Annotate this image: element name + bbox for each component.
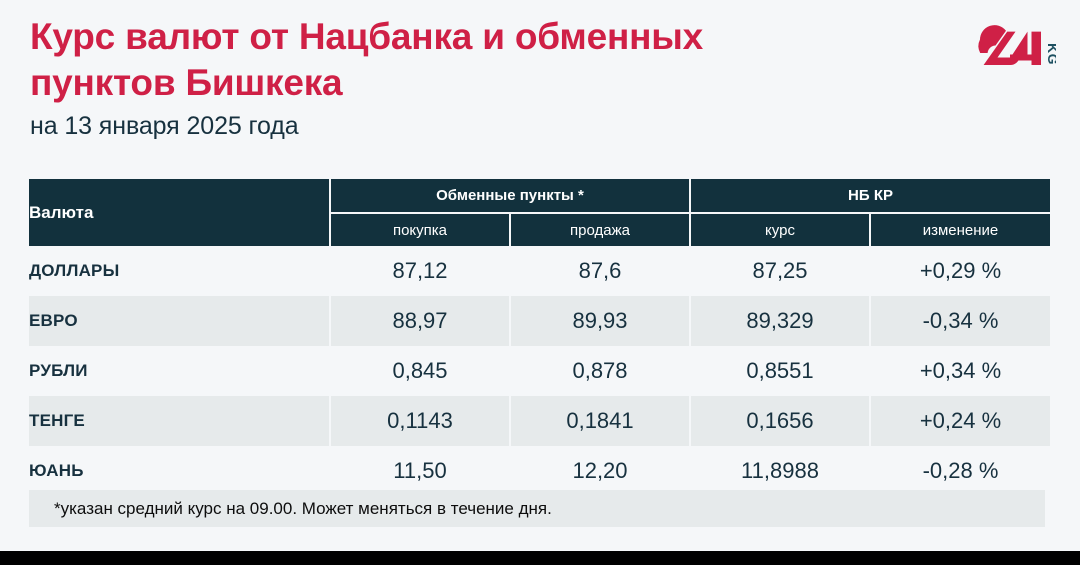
cell-change: +0,29 %: [870, 246, 1050, 296]
table-body: ДОЛЛАРЫ 87,12 87,6 87,25 +0,29 % ЕВРО 88…: [29, 246, 1050, 496]
24kg-logo: KG: [970, 20, 1056, 80]
header-row-groups: Валюта Обменные пункты * НБ КР: [29, 179, 1050, 213]
cell-currency: ДОЛЛАРЫ: [29, 246, 330, 296]
cell-change: +0,24 %: [870, 396, 1050, 446]
cell-rate: 87,25: [690, 246, 870, 296]
cell-rate: 89,329: [690, 296, 870, 346]
column-group-exchange-offices: Обменные пункты *: [330, 179, 690, 213]
cell-change: -0,34 %: [870, 296, 1050, 346]
svg-text:KG: KG: [1045, 43, 1056, 65]
column-header-buy: покупка: [330, 213, 510, 246]
cell-sell: 87,6: [510, 246, 690, 296]
column-header-currency: Валюта: [29, 179, 330, 246]
footnote-band: *указан средний курс на 09.00. Может мен…: [29, 490, 1045, 527]
table-row: ТЕНГЕ 0,1143 0,1841 0,1656 +0,24 %: [29, 396, 1050, 446]
cell-sell: 0,878: [510, 346, 690, 396]
cell-currency: ЕВРО: [29, 296, 330, 346]
table-row: ЕВРО 88,97 89,93 89,329 -0,34 %: [29, 296, 1050, 346]
cell-buy: 0,1143: [330, 396, 510, 446]
table-row: ЮАНЬ 11,50 12,20 11,8988 -0,28 %: [29, 446, 1050, 496]
table-row: ДОЛЛАРЫ 87,12 87,6 87,25 +0,29 %: [29, 246, 1050, 296]
cell-change: +0,34 %: [870, 346, 1050, 396]
table-head: Валюта Обменные пункты * НБ КР покупка п…: [29, 179, 1050, 246]
bottom-bar: [0, 551, 1080, 565]
cell-sell: 0,1841: [510, 396, 690, 446]
cell-sell: 12,20: [510, 446, 690, 496]
cell-rate: 11,8988: [690, 446, 870, 496]
rates-table: Валюта Обменные пункты * НБ КР покупка п…: [29, 179, 1050, 496]
column-header-change: изменение: [870, 213, 1050, 246]
cell-buy: 0,845: [330, 346, 510, 396]
cell-buy: 87,12: [330, 246, 510, 296]
page-subtitle: на 13 января 2025 года: [30, 112, 299, 141]
cell-rate: 0,1656: [690, 396, 870, 446]
logo-24-mark: [978, 25, 1041, 65]
table-row: РУБЛИ 0,845 0,878 0,8551 +0,34 %: [29, 346, 1050, 396]
header: Курс валют от Нацбанка и обменных пункто…: [0, 0, 1080, 170]
cell-buy: 11,50: [330, 446, 510, 496]
column-header-sell: продажа: [510, 213, 690, 246]
cell-change: -0,28 %: [870, 446, 1050, 496]
infographic-page: Курс валют от Нацбанка и обменных пункто…: [0, 0, 1080, 565]
cell-buy: 88,97: [330, 296, 510, 346]
column-header-rate: курс: [690, 213, 870, 246]
rates-table-container: Валюта Обменные пункты * НБ КР покупка п…: [29, 179, 1050, 496]
column-group-national-bank: НБ КР: [690, 179, 1050, 213]
cell-currency: ТЕНГЕ: [29, 396, 330, 446]
cell-sell: 89,93: [510, 296, 690, 346]
footnote-text: *указан средний курс на 09.00. Может мен…: [29, 499, 552, 519]
page-title: Курс валют от Нацбанка и обменных пункто…: [30, 14, 730, 107]
logo-kg-text: KG: [1045, 43, 1056, 65]
cell-rate: 0,8551: [690, 346, 870, 396]
cell-currency: ЮАНЬ: [29, 446, 330, 496]
cell-currency: РУБЛИ: [29, 346, 330, 396]
